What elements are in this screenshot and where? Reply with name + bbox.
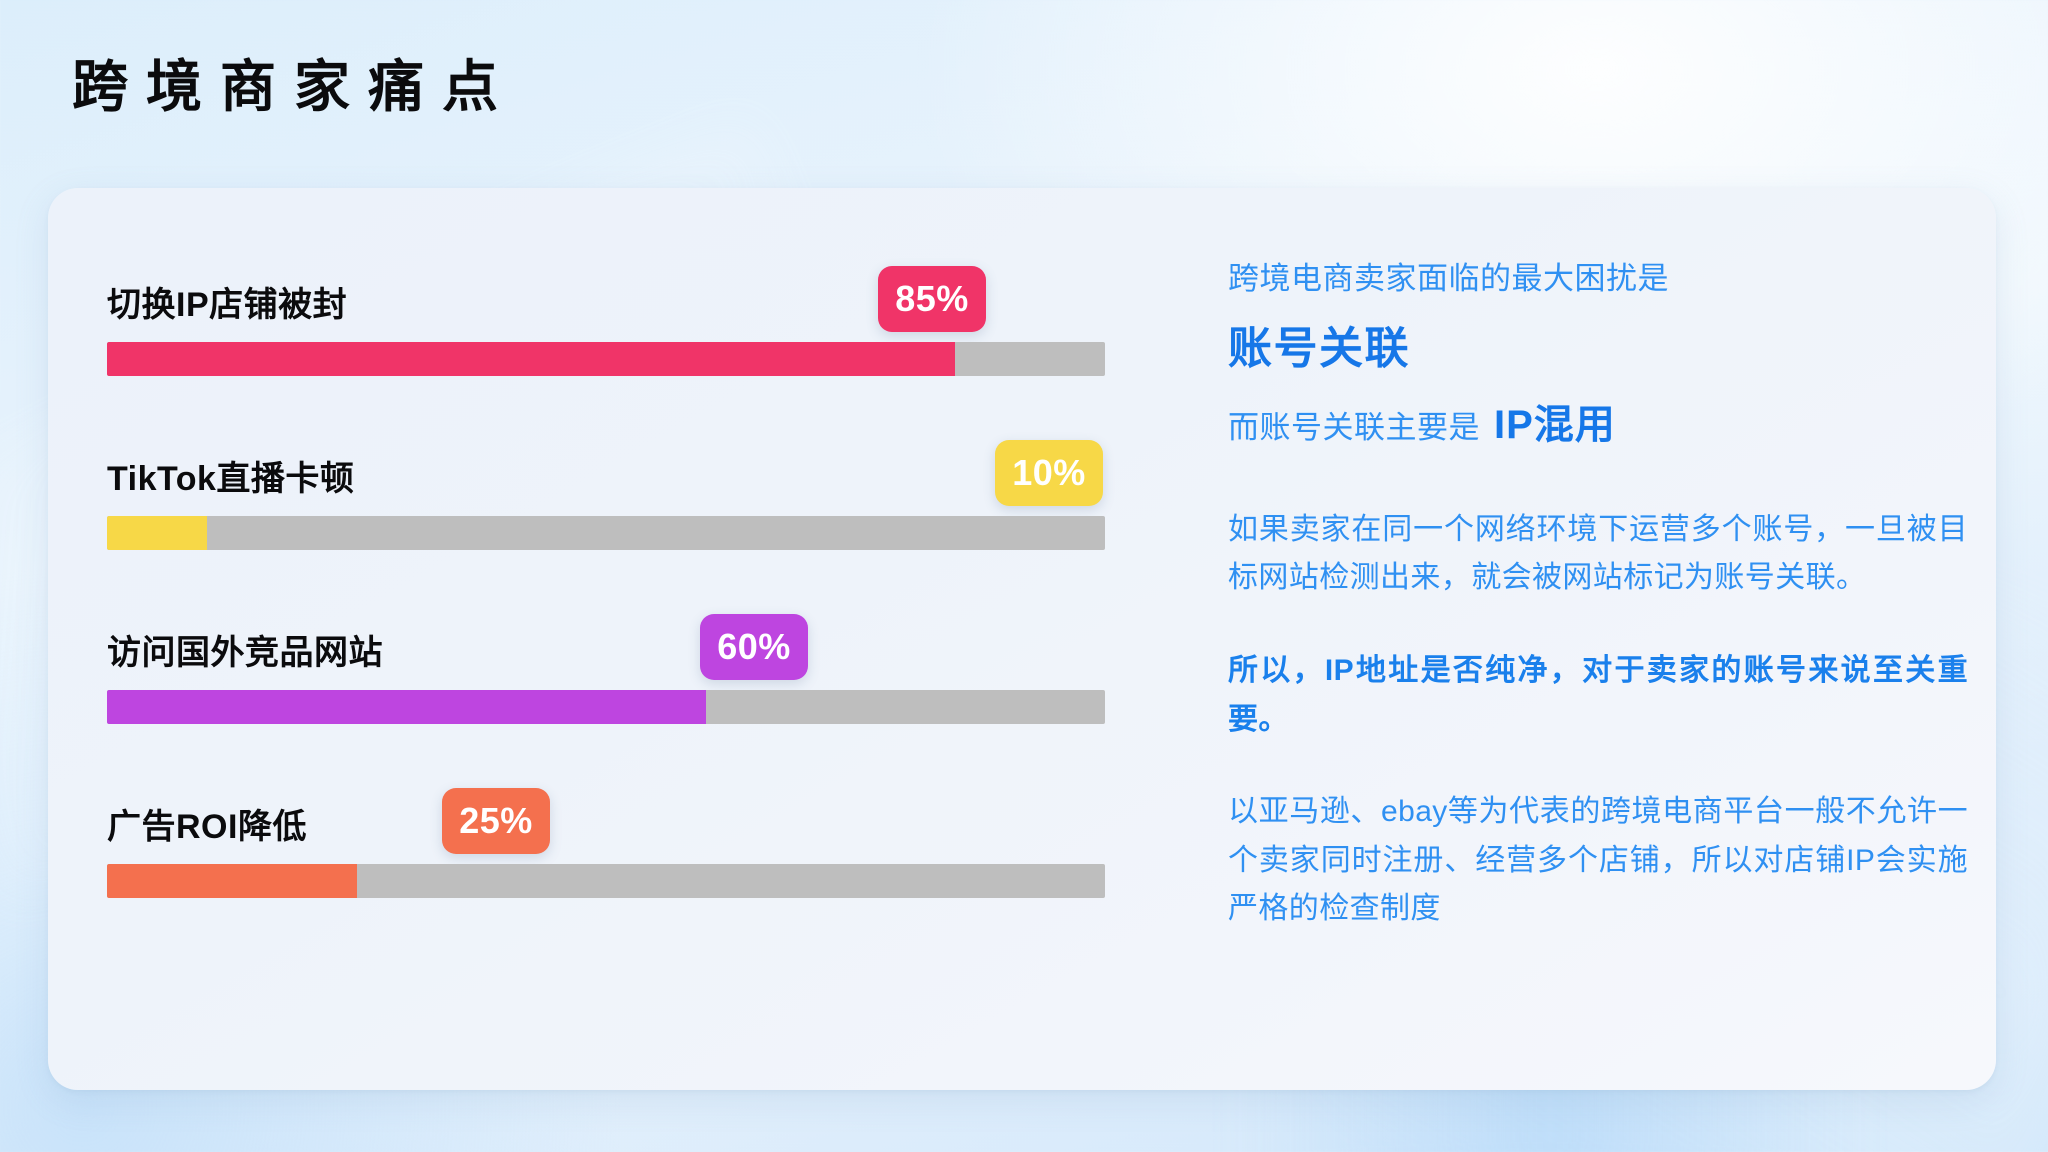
bar-group: 访问国外竞品网站 60% [107, 588, 1107, 724]
lead-line-secondary-prefix: 而账号关联主要是 [1228, 402, 1480, 447]
pain-point-bar-chart: 切换IP店铺被封 85% TikTok直播卡顿 10% 访问国外竞品网站 60% [107, 240, 1107, 898]
paragraph-2: 所以，IP地址是否纯净，对于卖家的账号来说至关重要。 [1228, 647, 1968, 744]
bar-value-badge: 85% [878, 266, 986, 332]
explanation-panel: 跨境电商卖家面临的最大困扰是 账号关联 而账号关联主要是 IP混用 如果卖家在同… [1228, 258, 1968, 934]
bar-track [107, 342, 1105, 376]
bar-group: 切换IP店铺被封 85% [107, 240, 1107, 376]
page-title: 跨境商家痛点 [72, 55, 516, 119]
bar-fill [107, 342, 955, 376]
paragraph-1: 如果卖家在同一个网络环境下运营多个账号，一旦被目标网站检测出来，就会被网站标记为… [1228, 506, 1968, 603]
bar-label: TikTok直播卡顿 [107, 451, 354, 500]
lead-line: 跨境电商卖家面临的最大困扰是 [1228, 258, 1968, 300]
bar-group: 广告ROI降低 25% [107, 762, 1107, 898]
content-card: 切换IP店铺被封 85% TikTok直播卡顿 10% 访问国外竞品网站 60% [48, 188, 1996, 1090]
paragraph-3: 以亚马逊、ebay等为代表的跨境电商平台一般不允许一个卖家同时注册、经营多个店铺… [1228, 788, 1968, 934]
bar-value-badge: 60% [700, 614, 808, 680]
bar-track [107, 864, 1105, 898]
bar-header: 广告ROI降低 25% [107, 762, 1107, 852]
bar-value-badge: 10% [995, 440, 1103, 506]
bar-fill [107, 690, 706, 724]
bar-label: 切换IP店铺被封 [107, 277, 347, 326]
lead-headline: 账号关联 [1228, 312, 1968, 376]
lead-line-secondary: 而账号关联主要是 IP混用 [1228, 392, 1968, 450]
bar-label: 广告ROI降低 [107, 799, 307, 848]
bar-fill [107, 516, 207, 550]
bar-header: 访问国外竞品网站 60% [107, 588, 1107, 678]
bar-value-badge: 25% [442, 788, 550, 854]
bar-header: TikTok直播卡顿 10% [107, 414, 1107, 504]
bar-label: 访问国外竞品网站 [107, 625, 383, 674]
bar-track [107, 690, 1105, 724]
lead-line-secondary-highlight: IP混用 [1494, 392, 1616, 450]
bar-fill [107, 864, 357, 898]
bar-group: TikTok直播卡顿 10% [107, 414, 1107, 550]
bar-track [107, 516, 1105, 550]
bar-header: 切换IP店铺被封 85% [107, 240, 1107, 330]
